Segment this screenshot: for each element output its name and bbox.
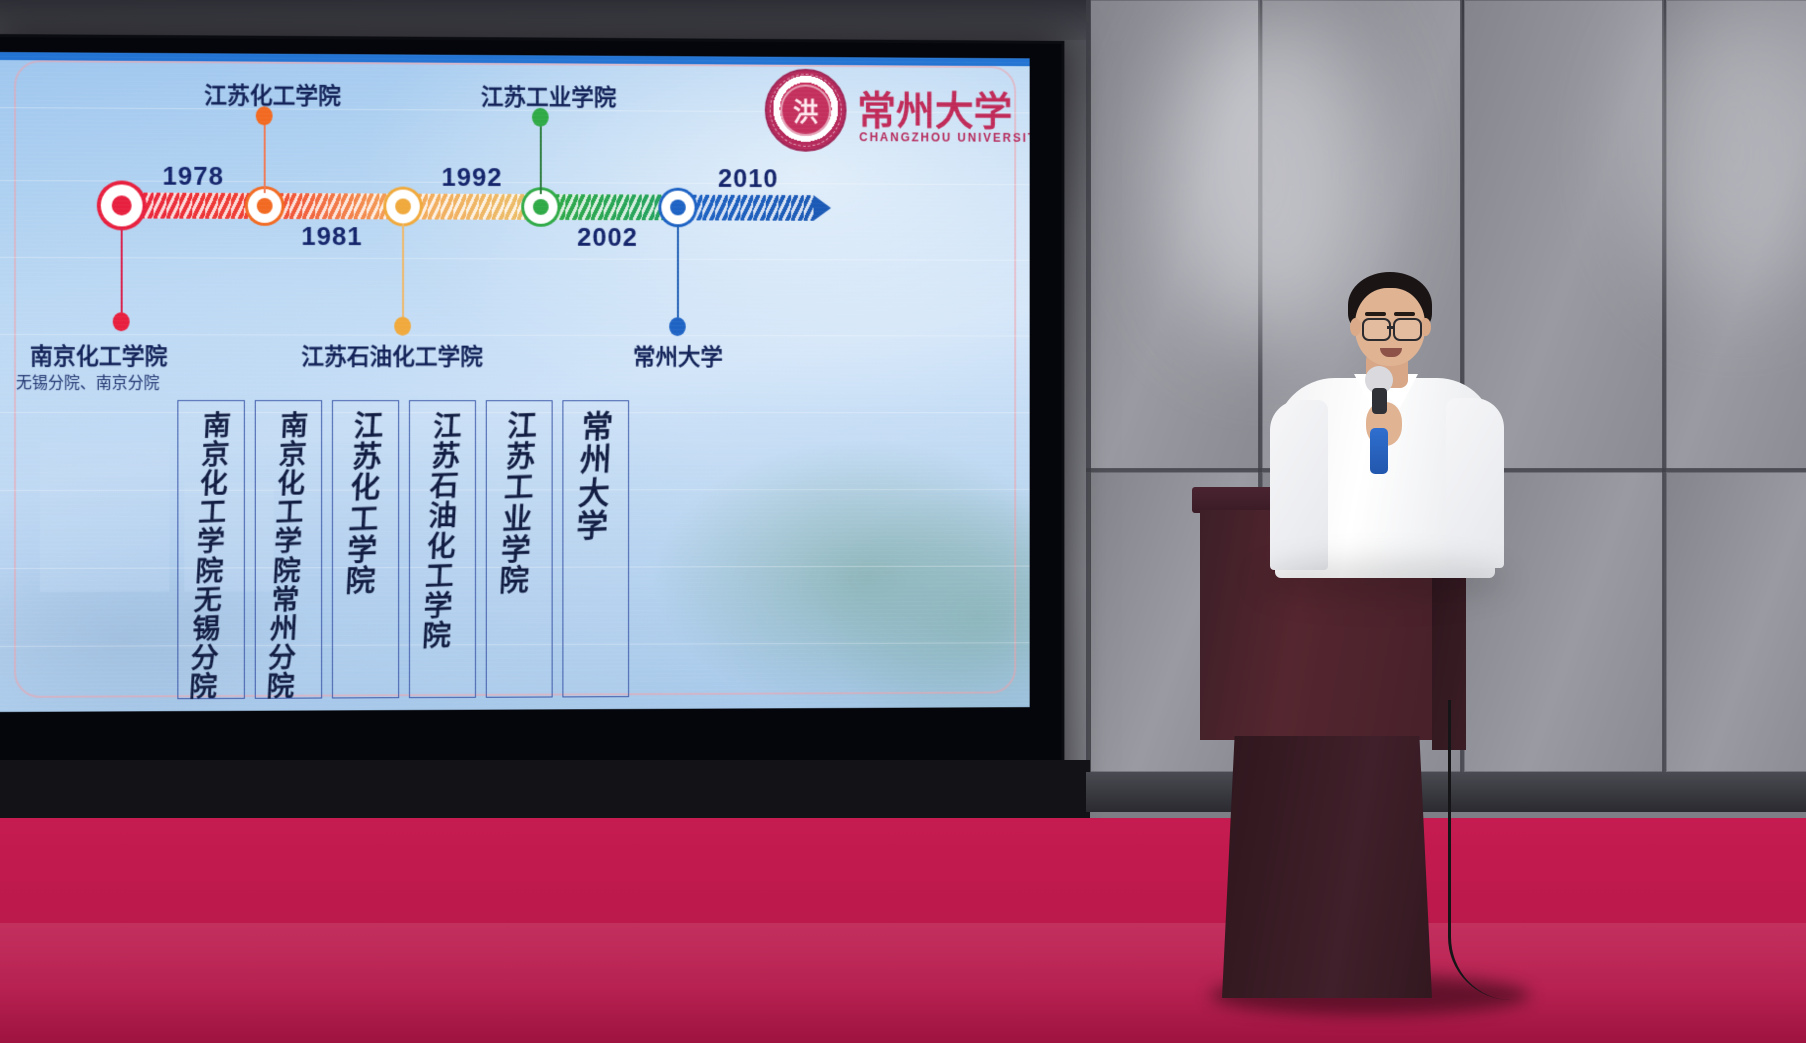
timeline-year-1978: 1978 [162, 161, 223, 192]
milestone-dot-2010 [669, 317, 686, 336]
milestone-label-czu: 常州大学 [633, 338, 723, 372]
milestone-label-petro: 江苏石油化工学院 [301, 337, 483, 371]
calligraphy-panel-row: 南京化工学院无锡分院 南京化工学院常州分院 江苏化工学院 江苏石油化工学院 江苏… [177, 400, 629, 699]
calligraphy-panel-2[interactable]: 南京化工学院常州分院 [255, 400, 322, 699]
milestone-stem-1981 [264, 121, 266, 193]
node-core [257, 198, 273, 214]
calligraphy-text: 南京化工学院常州分院 [266, 411, 311, 702]
milestone-label-jiangsu-chem: 江苏化工学院 [204, 76, 341, 111]
led-display-screen: 洪 常州大学 CHANGZHOU UNIVERSITY [0, 34, 1064, 816]
calligraphy-panel-4[interactable]: 江苏石油化工学院 [409, 400, 476, 698]
chevron-texture [540, 194, 677, 220]
microphone-cable [1448, 700, 1511, 1000]
speaker-brow-right [1394, 312, 1415, 316]
timeline-arrow-tip [813, 195, 831, 221]
milestone-stem-2002 [540, 123, 542, 194]
timeline-node-2010[interactable] [661, 191, 694, 225]
speaker-figure [1270, 270, 1530, 570]
carpet-sheen [0, 923, 1806, 1043]
chevron-texture [264, 193, 402, 219]
microphone-body [1370, 428, 1388, 474]
timeline-year-2010: 2010 [718, 163, 778, 194]
speaker-right-arm [1446, 398, 1504, 568]
calligraphy-text: 江苏石油化工学院 [421, 411, 464, 651]
speaker-ear-left [1350, 318, 1361, 336]
speaker-left-arm [1270, 400, 1328, 570]
podium-lower-body [1222, 736, 1432, 998]
chevron-texture [677, 195, 814, 221]
milestone-sublabel-nanjing: 无锡分院、南京分院 [16, 369, 160, 393]
wall-panel [1666, 472, 1806, 772]
milestone-stem-2010 [677, 224, 679, 321]
node-core [112, 195, 132, 215]
calligraphy-panel-5[interactable]: 江苏工业学院 [486, 400, 553, 698]
microphone-neck [1372, 388, 1387, 414]
timeline-segment [402, 194, 540, 220]
milestone-dot-1978 [113, 312, 130, 331]
calligraphy-text: 江苏化工学院 [345, 411, 386, 598]
calligraphy-text: 江苏工业学院 [499, 411, 540, 598]
timeline-segment [677, 195, 814, 221]
history-timeline: 1978 1981 1992 2002 2010 南京化工学院无锡分院 南京化工… [0, 52, 1030, 383]
milestone-label-industrial: 江苏工业学院 [481, 78, 616, 112]
timeline-node-1981[interactable] [248, 189, 282, 223]
calligraphy-panel-1[interactable]: 南京化工学院无锡分院 [177, 400, 244, 699]
node-core [533, 199, 549, 215]
milestone-dot-1992 [394, 317, 411, 336]
wall-base-shadow [1086, 772, 1806, 812]
chevron-texture [402, 194, 540, 220]
calligraphy-text: 常州大学 [576, 411, 616, 544]
timeline-segment [540, 194, 677, 220]
timeline-node-2002[interactable] [524, 190, 557, 224]
presentation-slide: 洪 常州大学 CHANGZHOU UNIVERSITY [0, 52, 1030, 712]
speaker-brow-left [1365, 312, 1386, 316]
timeline-node-1978[interactable] [101, 184, 143, 226]
calligraphy-text: 南京化工学院无锡分院 [189, 411, 234, 702]
wall-seam [1086, 0, 1091, 790]
calligraphy-panel-6[interactable]: 常州大学 [562, 400, 629, 697]
speaker-glasses-right-lens [1393, 318, 1422, 341]
conference-hall-scene: 洪 常州大学 CHANGZHOU UNIVERSITY [0, 0, 1806, 1043]
speaker-body-shadow [1258, 560, 1508, 600]
stage-skirt [0, 760, 1090, 822]
node-core [395, 199, 411, 215]
milestone-label-nanjing: 南京化工学院 [30, 337, 167, 371]
timeline-year-1992: 1992 [442, 162, 503, 193]
timeline-node-1992[interactable] [386, 190, 420, 224]
milestone-stem-1978 [121, 226, 123, 316]
node-core [670, 200, 686, 216]
timeline-year-1981: 1981 [301, 221, 362, 252]
timeline-segment [264, 193, 402, 219]
speaker-glasses-bridge [1387, 326, 1393, 329]
timeline-year-2002: 2002 [577, 222, 638, 253]
milestone-stem-1992 [402, 223, 404, 320]
speaker-glasses-left-lens [1362, 318, 1391, 341]
calligraphy-panel-3[interactable]: 江苏化工学院 [332, 400, 399, 698]
